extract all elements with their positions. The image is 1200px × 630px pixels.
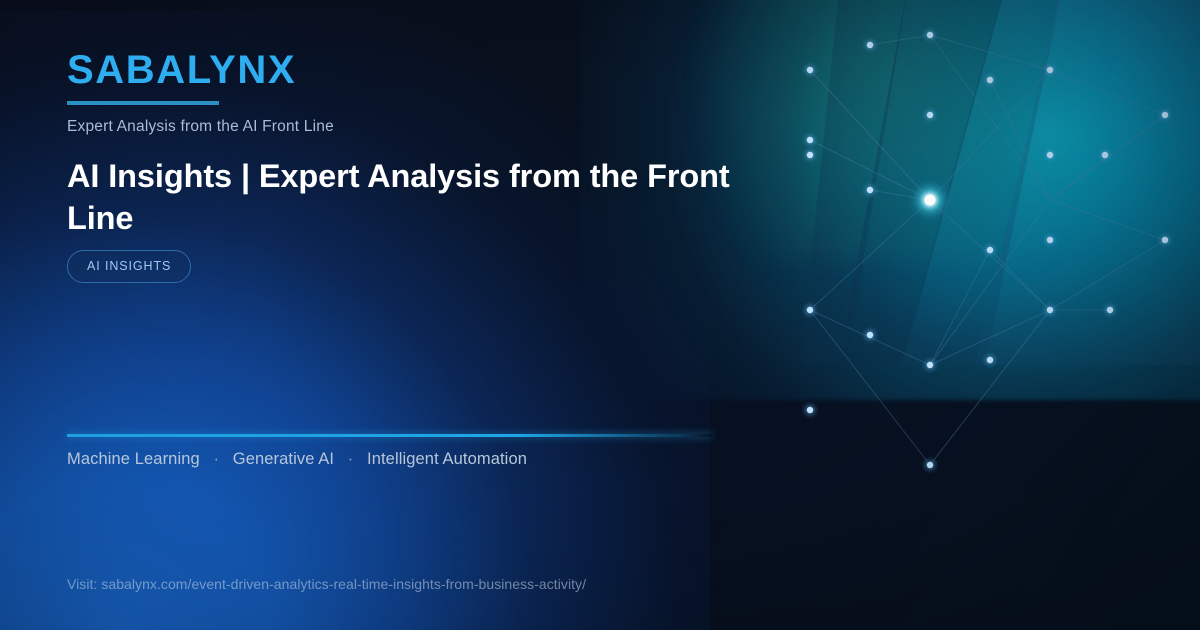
tag-separator: · bbox=[339, 450, 363, 468]
brand-block: SABALYNX Expert Analysis from the AI Fro… bbox=[67, 50, 334, 136]
footer-url[interactable]: Visit: sabalynx.com/event-driven-analyti… bbox=[67, 576, 586, 592]
page-title: AI Insights | Expert Analysis from the F… bbox=[67, 155, 757, 240]
category-badge[interactable]: AI INSIGHTS bbox=[67, 250, 191, 283]
brand-tagline: Expert Analysis from the AI Front Line bbox=[67, 118, 334, 136]
content-column: SABALYNX Expert Analysis from the AI Fro… bbox=[67, 0, 767, 630]
tag-item: Machine Learning bbox=[67, 450, 200, 468]
brand-underline bbox=[67, 101, 219, 105]
tag-separator: · bbox=[204, 450, 228, 468]
brand-name: SABALYNX bbox=[67, 50, 334, 90]
og-card: SABALYNX Expert Analysis from the AI Fro… bbox=[0, 0, 1200, 630]
tag-item: Intelligent Automation bbox=[367, 450, 527, 468]
topic-tags: Machine Learning · Generative AI · Intel… bbox=[67, 450, 527, 469]
section-divider bbox=[67, 434, 712, 437]
tag-item: Generative AI bbox=[233, 450, 334, 468]
